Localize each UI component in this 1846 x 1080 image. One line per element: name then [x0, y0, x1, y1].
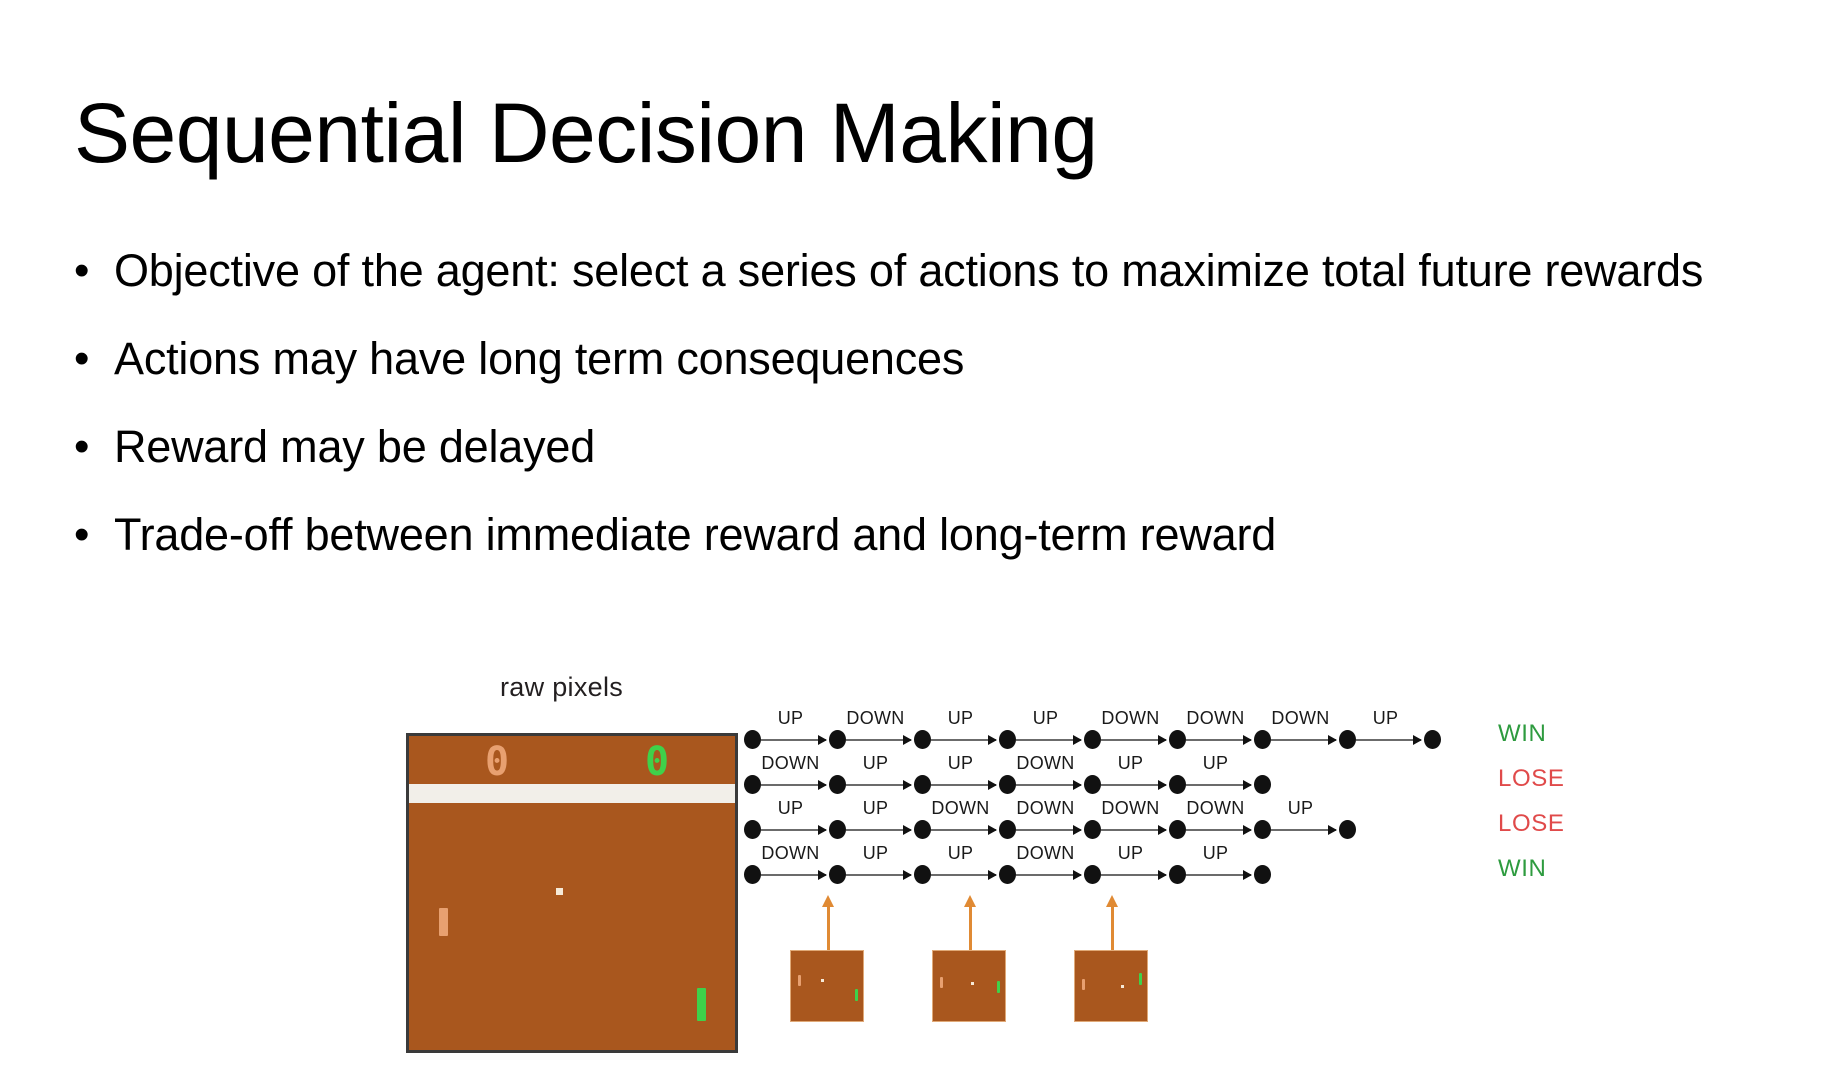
score-right: 0 [645, 742, 669, 782]
state-node [1254, 865, 1271, 884]
state-node [1254, 820, 1271, 839]
transition-arrow-icon [1101, 739, 1166, 741]
action-label: UP [948, 843, 974, 864]
action-label: DOWN [1016, 753, 1074, 774]
state-node [744, 820, 761, 839]
transition-arrow-icon [1016, 874, 1081, 876]
bullet-marker-icon: • [74, 240, 114, 302]
action-label: DOWN [761, 843, 819, 864]
list-item: • Trade-off between immediate reward and… [74, 504, 1814, 566]
state-node [1084, 730, 1101, 749]
paddle-left [798, 975, 801, 986]
bullet-text: Actions may have long term consequences [114, 328, 1814, 390]
transition-arrow-icon [846, 784, 911, 786]
ball [1121, 985, 1124, 988]
action-label: DOWN [1101, 798, 1159, 819]
state-node [1254, 775, 1271, 794]
action-label: UP [863, 843, 889, 864]
transition-arrow-icon [931, 874, 996, 876]
bullet-marker-icon: • [74, 416, 114, 478]
transition-arrow-icon [846, 874, 911, 876]
state-node [1084, 775, 1101, 794]
transition-arrow-icon [761, 874, 826, 876]
state-node [1169, 730, 1186, 749]
paddle-right [855, 989, 858, 1001]
transition-arrow-icon [931, 784, 996, 786]
action-label: DOWN [1186, 708, 1244, 729]
state-node [914, 775, 931, 794]
bullet-text: Reward may be delayed [114, 416, 1814, 478]
action-label: UP [1288, 798, 1314, 819]
transition-arrow-icon [761, 829, 826, 831]
outcome-label: WIN [1498, 855, 1546, 883]
action-label: UP [1203, 753, 1229, 774]
outcome-label: LOSE [1498, 765, 1564, 793]
state-node [999, 820, 1016, 839]
state-node [744, 730, 761, 749]
transition-arrow-icon [1356, 739, 1421, 741]
ball [821, 979, 824, 982]
paddle-right [1139, 973, 1142, 985]
bullet-marker-icon: • [74, 328, 114, 390]
transition-arrow-icon [1016, 784, 1081, 786]
pong-state-thumbnail [1074, 950, 1148, 1022]
transition-arrow-icon [1101, 829, 1166, 831]
action-label: DOWN [931, 798, 989, 819]
state-pointer-arrow-icon [827, 905, 830, 950]
transition-arrow-icon [931, 739, 996, 741]
paddle-left [940, 977, 943, 988]
pong-state-thumbnail [932, 950, 1006, 1022]
trajectory-diagram: WINUPDOWNUPUPDOWNDOWNDOWNUPLOSEDOWNUPUPD… [752, 708, 1492, 908]
bullet-text: Trade-off between immediate reward and l… [114, 504, 1814, 566]
state-node [829, 865, 846, 884]
outcome-label: WIN [1498, 720, 1546, 748]
ball [971, 982, 974, 985]
pong-game-frame: 0 0 [406, 733, 738, 1053]
action-label: UP [863, 753, 889, 774]
trajectory-row: DOWNUPUPDOWNUPUP [752, 843, 1492, 883]
transition-arrow-icon [1186, 784, 1251, 786]
state-node [1169, 820, 1186, 839]
action-label: UP [1118, 753, 1144, 774]
raw-pixels-caption: raw pixels [500, 672, 623, 703]
paddle-right [697, 988, 706, 1021]
transition-arrow-icon [1271, 739, 1336, 741]
action-label: UP [1033, 708, 1059, 729]
outcome-label: LOSE [1498, 810, 1564, 838]
action-label: UP [863, 798, 889, 819]
list-item: • Reward may be delayed [74, 416, 1814, 478]
transition-arrow-icon [1016, 739, 1081, 741]
transition-arrow-icon [1186, 829, 1251, 831]
state-node [914, 730, 931, 749]
action-label: UP [778, 798, 804, 819]
trajectory-row: UPUPDOWNDOWNDOWNDOWNUP [752, 798, 1492, 838]
ball [556, 888, 563, 895]
action-label: DOWN [1271, 708, 1329, 729]
state-node [914, 865, 931, 884]
state-node [999, 775, 1016, 794]
page-title: Sequential Decision Making [74, 88, 1098, 179]
transition-arrow-icon [1101, 784, 1166, 786]
transition-arrow-icon [761, 739, 826, 741]
trajectory-row: DOWNUPUPDOWNUPUP [752, 753, 1492, 793]
action-label: UP [1118, 843, 1144, 864]
action-label: DOWN [846, 708, 904, 729]
state-node [1339, 820, 1356, 839]
transition-arrow-icon [846, 739, 911, 741]
state-node [1339, 730, 1356, 749]
transition-arrow-icon [1101, 874, 1166, 876]
transition-arrow-icon [931, 829, 996, 831]
action-label: DOWN [1101, 708, 1159, 729]
action-label: UP [1373, 708, 1399, 729]
list-item: • Actions may have long term consequence… [74, 328, 1814, 390]
state-node [1084, 865, 1101, 884]
state-pointer-arrow-icon [1111, 905, 1114, 950]
state-node [829, 730, 846, 749]
transition-arrow-icon [1271, 829, 1336, 831]
state-node [1424, 730, 1441, 749]
transition-arrow-icon [1016, 829, 1081, 831]
transition-arrow-icon [761, 784, 826, 786]
action-label: UP [1203, 843, 1229, 864]
state-node [1084, 820, 1101, 839]
state-node [999, 730, 1016, 749]
action-label: DOWN [1016, 798, 1074, 819]
state-node [1169, 775, 1186, 794]
state-node [744, 865, 761, 884]
paddle-right [997, 981, 1000, 993]
figure-sequential-decision: raw pixels 0 0 WINUPDOWNUPUPDOWNDOWNDOWN… [0, 660, 1846, 1080]
bullet-text: Objective of the agent: select a series … [114, 240, 1814, 302]
presentation-slide: Sequential Decision Making • Objective o… [0, 0, 1846, 1080]
action-label: UP [948, 708, 974, 729]
bullet-list: • Objective of the agent: select a serie… [74, 240, 1814, 592]
action-label: DOWN [761, 753, 819, 774]
divider-bar [409, 784, 735, 803]
trajectory-row: UPDOWNUPUPDOWNDOWNDOWNUP [752, 708, 1492, 748]
action-label: UP [948, 753, 974, 774]
list-item: • Objective of the agent: select a serie… [74, 240, 1814, 302]
state-node [744, 775, 761, 794]
state-node [829, 820, 846, 839]
state-node [1169, 865, 1186, 884]
action-label: DOWN [1016, 843, 1074, 864]
bullet-marker-icon: • [74, 504, 114, 566]
transition-arrow-icon [1186, 874, 1251, 876]
state-node [914, 820, 931, 839]
transition-arrow-icon [846, 829, 911, 831]
state-pointer-arrow-icon [969, 905, 972, 950]
pong-state-thumbnail [790, 950, 864, 1022]
action-label: UP [778, 708, 804, 729]
state-node [999, 865, 1016, 884]
action-label: DOWN [1186, 798, 1244, 819]
paddle-left [1082, 979, 1085, 990]
state-node [829, 775, 846, 794]
state-node [1254, 730, 1271, 749]
paddle-left [439, 908, 448, 936]
transition-arrow-icon [1186, 739, 1251, 741]
score-left: 0 [485, 742, 509, 782]
